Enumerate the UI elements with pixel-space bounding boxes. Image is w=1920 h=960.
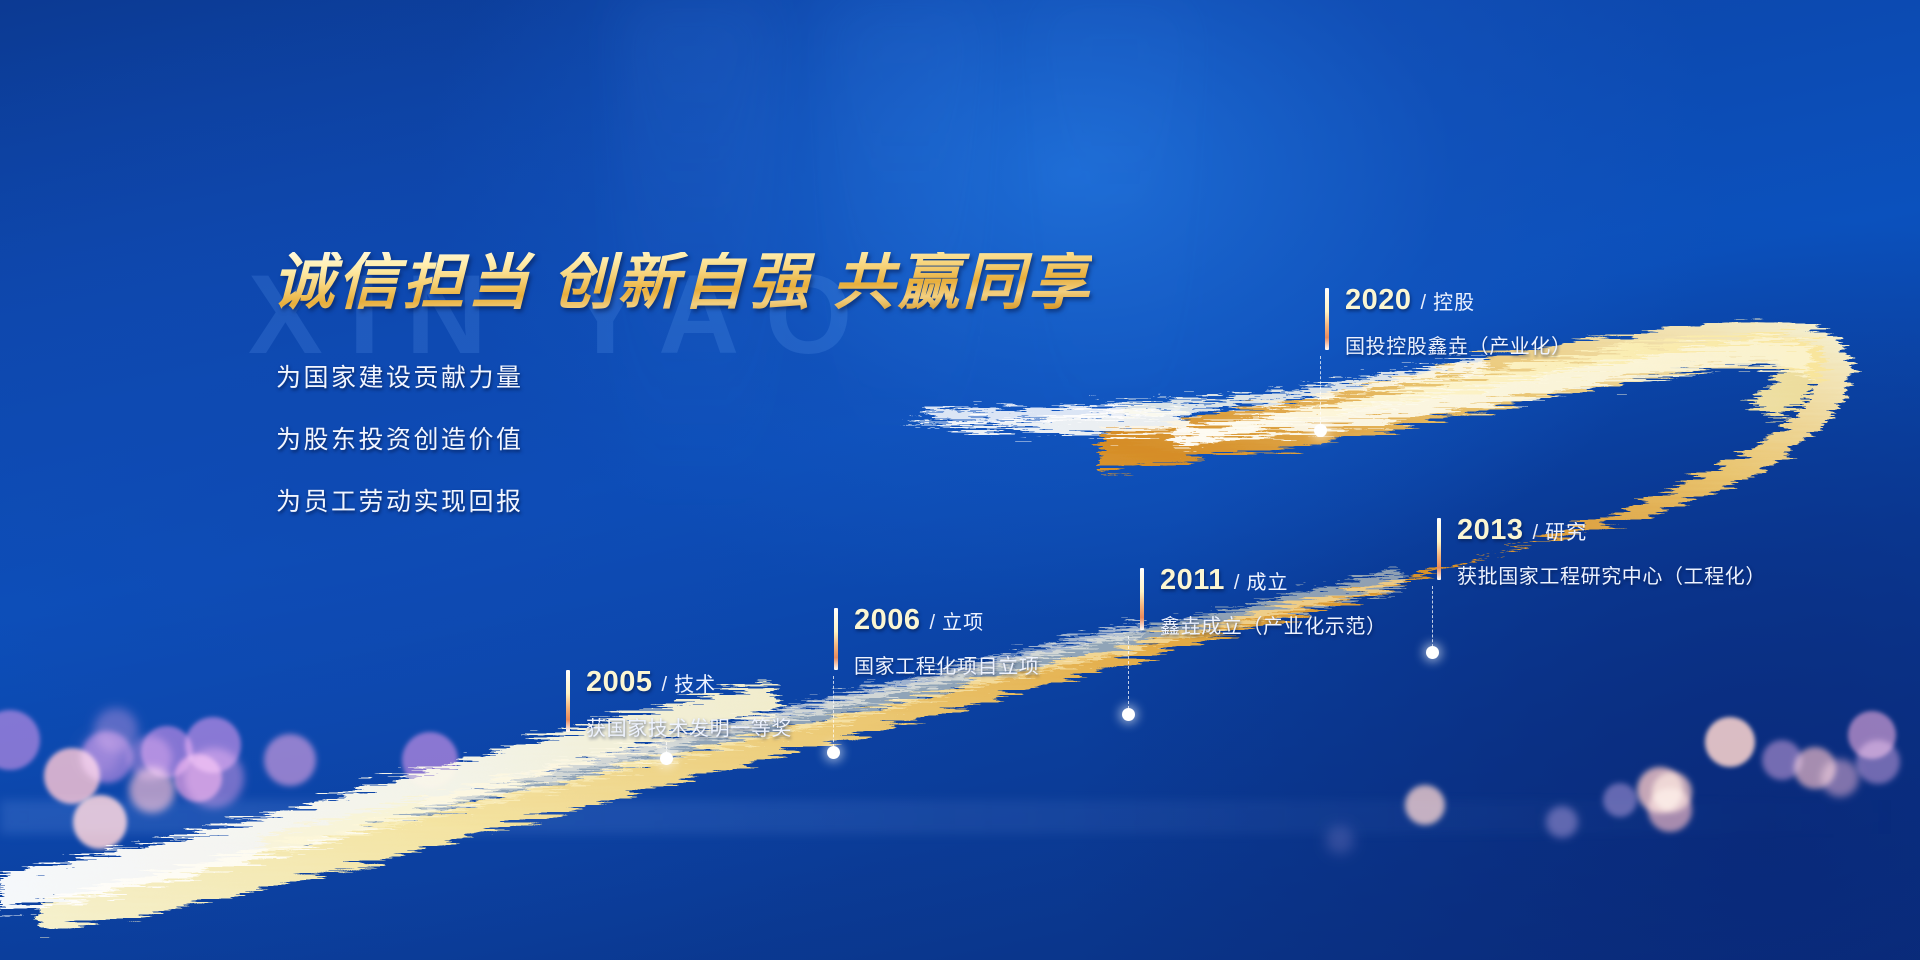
timeline-event-2013[interactable]: 2013/研究获批国家工程研究中心（工程化） <box>1437 516 1766 589</box>
bokeh-circle-11 <box>264 734 316 786</box>
timeline-tag-2013: 研究 <box>1545 523 1587 543</box>
bokeh-circle-12 <box>129 767 175 813</box>
timeline-separator-2020: / <box>1421 293 1427 313</box>
timeline-separator-2006: / <box>930 613 936 633</box>
bokeh-circle-1 <box>0 710 40 770</box>
bokeh-circle-7 <box>174 754 222 802</box>
bokeh-circle-15 <box>1705 717 1755 767</box>
timeline-tag-2020: 控股 <box>1433 293 1475 313</box>
timeline-desc-2006: 国家工程化项目立项 <box>854 650 1039 679</box>
gold-brush-ribbon <box>0 0 1920 960</box>
timeline-accent-bar-2013 <box>1437 518 1441 580</box>
timeline-dot-2006[interactable] <box>827 746 840 759</box>
timeline-separator-2011: / <box>1234 573 1240 593</box>
subtitle-line-1: 为国家建设贡献力量 <box>276 358 524 394</box>
bokeh-circle-13 <box>402 732 458 788</box>
timeline-leader-2020 <box>1320 356 1321 430</box>
subtitle-line-3: 为员工劳动实现回报 <box>276 482 524 518</box>
timeline-desc-2011: 鑫垚成立（产业化示范） <box>1160 610 1387 639</box>
timeline-desc-2020: 国投控股鑫垚（产业化） <box>1345 330 1572 359</box>
bokeh-circle-3 <box>94 708 138 752</box>
timeline-year-2020: 2020 <box>1345 286 1412 315</box>
bokeh-circle-5 <box>141 726 193 778</box>
banner-canvas: XIN YAO 诚信担当 创新自强 共赢同享 为国家建设贡献力量 为股东投资创造… <box>0 0 1920 960</box>
timeline-leader-2013 <box>1432 586 1433 652</box>
timeline-accent-bar-2011 <box>1140 568 1144 630</box>
bokeh-circle-24 <box>1546 806 1578 838</box>
bokeh-circle-16 <box>1637 767 1683 813</box>
timeline-heading-2020: 2020/控股 <box>1345 286 1572 315</box>
timeline-year-2005: 2005 <box>586 668 653 697</box>
timeline-dot-2020[interactable] <box>1314 424 1327 437</box>
timeline-heading-2005: 2005/技术 <box>586 668 792 697</box>
timeline-year-2013: 2013 <box>1457 516 1524 545</box>
bokeh-circle-4 <box>73 795 127 849</box>
timeline-tag-2005: 技术 <box>674 675 716 695</box>
bokeh-circle-23 <box>1603 783 1637 817</box>
timeline-leader-2011 <box>1128 636 1129 714</box>
timeline-heading-2011: 2011/成立 <box>1160 566 1387 595</box>
bokeh-circle-27 <box>1326 826 1354 854</box>
bokeh-circle-9 <box>185 717 241 773</box>
timeline-leader-2006 <box>833 676 834 752</box>
bokeh-circle-8 <box>81 731 133 783</box>
bokeh-circle-25 <box>1652 772 1692 812</box>
bokeh-circle-2 <box>44 748 100 804</box>
bokeh-circle-20 <box>1856 740 1900 784</box>
bokeh-circle-22 <box>1648 788 1692 832</box>
timeline-desc-2013: 获批国家工程研究中心（工程化） <box>1457 560 1766 589</box>
timeline-year-2006: 2006 <box>854 606 921 635</box>
timeline-dot-2011[interactable] <box>1122 708 1135 721</box>
timeline-event-2006[interactable]: 2006/立项国家工程化项目立项 <box>834 606 1039 679</box>
bokeh-circle-6 <box>80 735 120 775</box>
timeline-heading-2013: 2013/研究 <box>1457 516 1766 545</box>
bokeh-circle-19 <box>1848 711 1896 759</box>
bokeh-circle-10 <box>128 736 172 780</box>
timeline-separator-2013: / <box>1533 523 1539 543</box>
timeline-tag-2006: 立项 <box>942 613 984 633</box>
timeline-desc-2005: 获国家技术发明一等奖 <box>586 712 792 741</box>
horizon-band <box>0 800 1920 834</box>
timeline-tag-2011: 成立 <box>1246 573 1288 593</box>
timeline-event-2011[interactable]: 2011/成立鑫垚成立（产业化示范） <box>1140 566 1387 639</box>
timeline-heading-2006: 2006/立项 <box>854 606 1039 635</box>
bokeh-circle-14 <box>184 748 244 808</box>
timeline-dot-2005[interactable] <box>660 752 673 765</box>
timeline-accent-bar-2020 <box>1325 288 1329 350</box>
bokeh-circle-17 <box>1762 740 1802 780</box>
page-title: 诚信担当 创新自强 共赢同享 <box>272 252 1092 314</box>
bokeh-circle-18 <box>1794 747 1836 789</box>
timeline-event-2005[interactable]: 2005/技术获国家技术发明一等奖 <box>566 668 792 741</box>
timeline-event-2020[interactable]: 2020/控股国投控股鑫垚（产业化） <box>1325 286 1572 359</box>
timeline-dot-2013[interactable] <box>1426 646 1439 659</box>
timeline-accent-bar-2006 <box>834 608 838 670</box>
bokeh-circle-21 <box>1821 759 1859 797</box>
bokeh-circle-26 <box>1405 785 1445 825</box>
timeline-accent-bar-2005 <box>566 670 570 732</box>
timeline-separator-2005: / <box>662 675 668 695</box>
timeline-year-2011: 2011 <box>1160 566 1225 595</box>
subtitle-line-2: 为股东投资创造价值 <box>276 420 524 456</box>
